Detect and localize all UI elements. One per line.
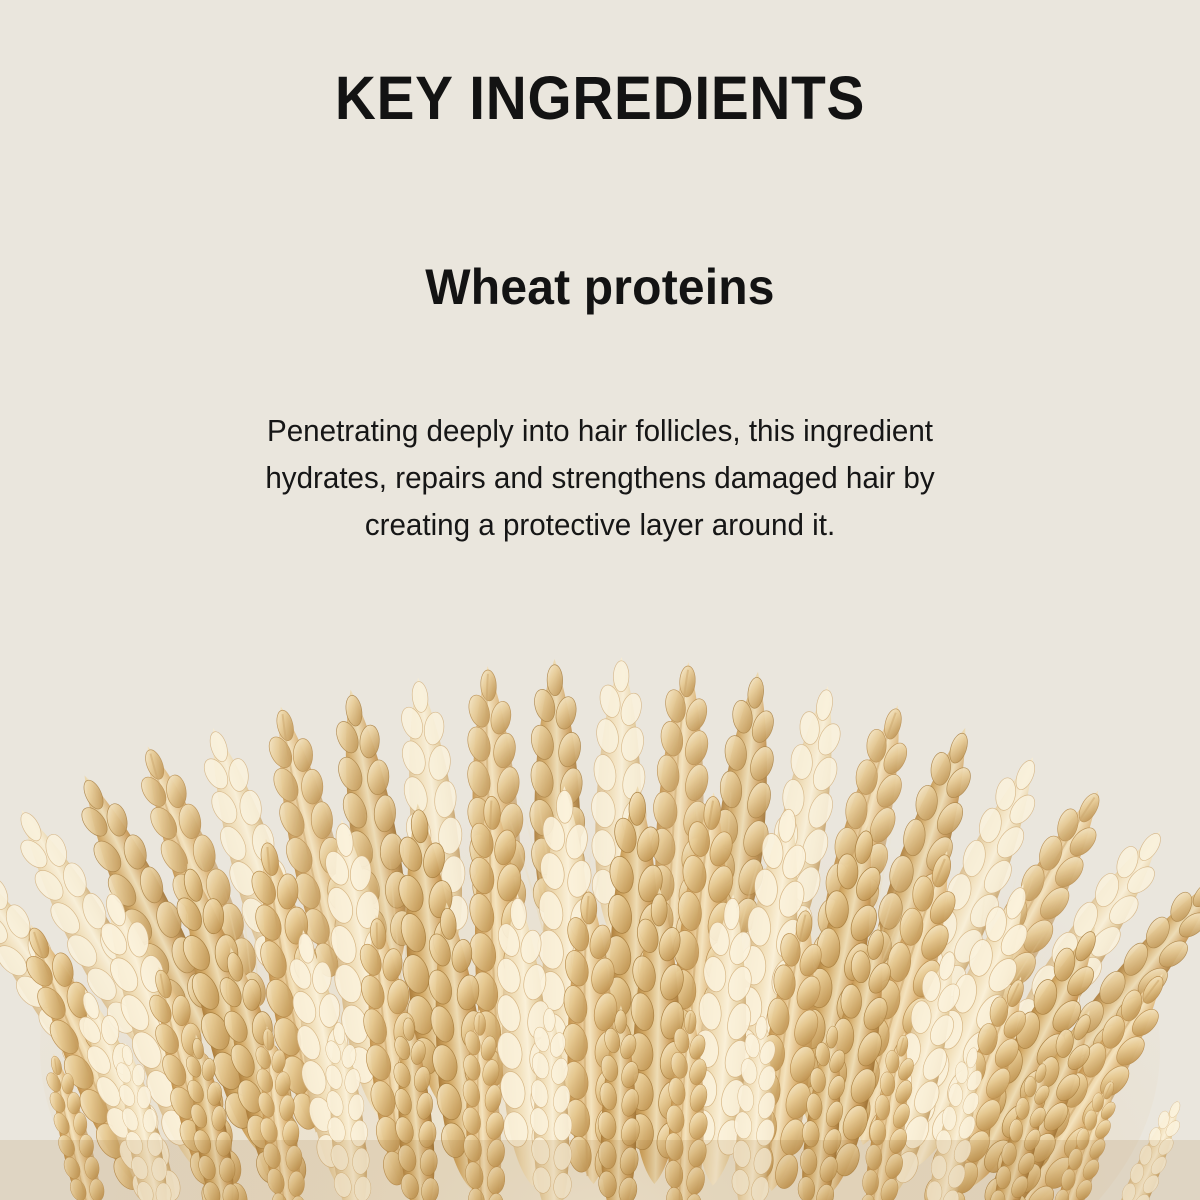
wheat-bundle-image bbox=[0, 580, 1200, 1200]
description-line-1: Penetrating deeply into hair follicles, … bbox=[197, 408, 1002, 455]
text-block: KEY INGREDIENTS Wheat proteins Penetrati… bbox=[0, 0, 1200, 549]
ingredient-name: Wheat proteins bbox=[24, 129, 1176, 312]
page-title: KEY INGREDIENTS bbox=[42, 0, 1158, 129]
ingredient-description: Penetrating deeply into hair follicles, … bbox=[197, 312, 1002, 549]
description-line-3: creating a protective layer around it. bbox=[197, 502, 1002, 549]
description-line-2: hydrates, repairs and strengthens damage… bbox=[197, 455, 1002, 502]
key-ingredients-panel: KEY INGREDIENTS Wheat proteins Penetrati… bbox=[0, 0, 1200, 1200]
